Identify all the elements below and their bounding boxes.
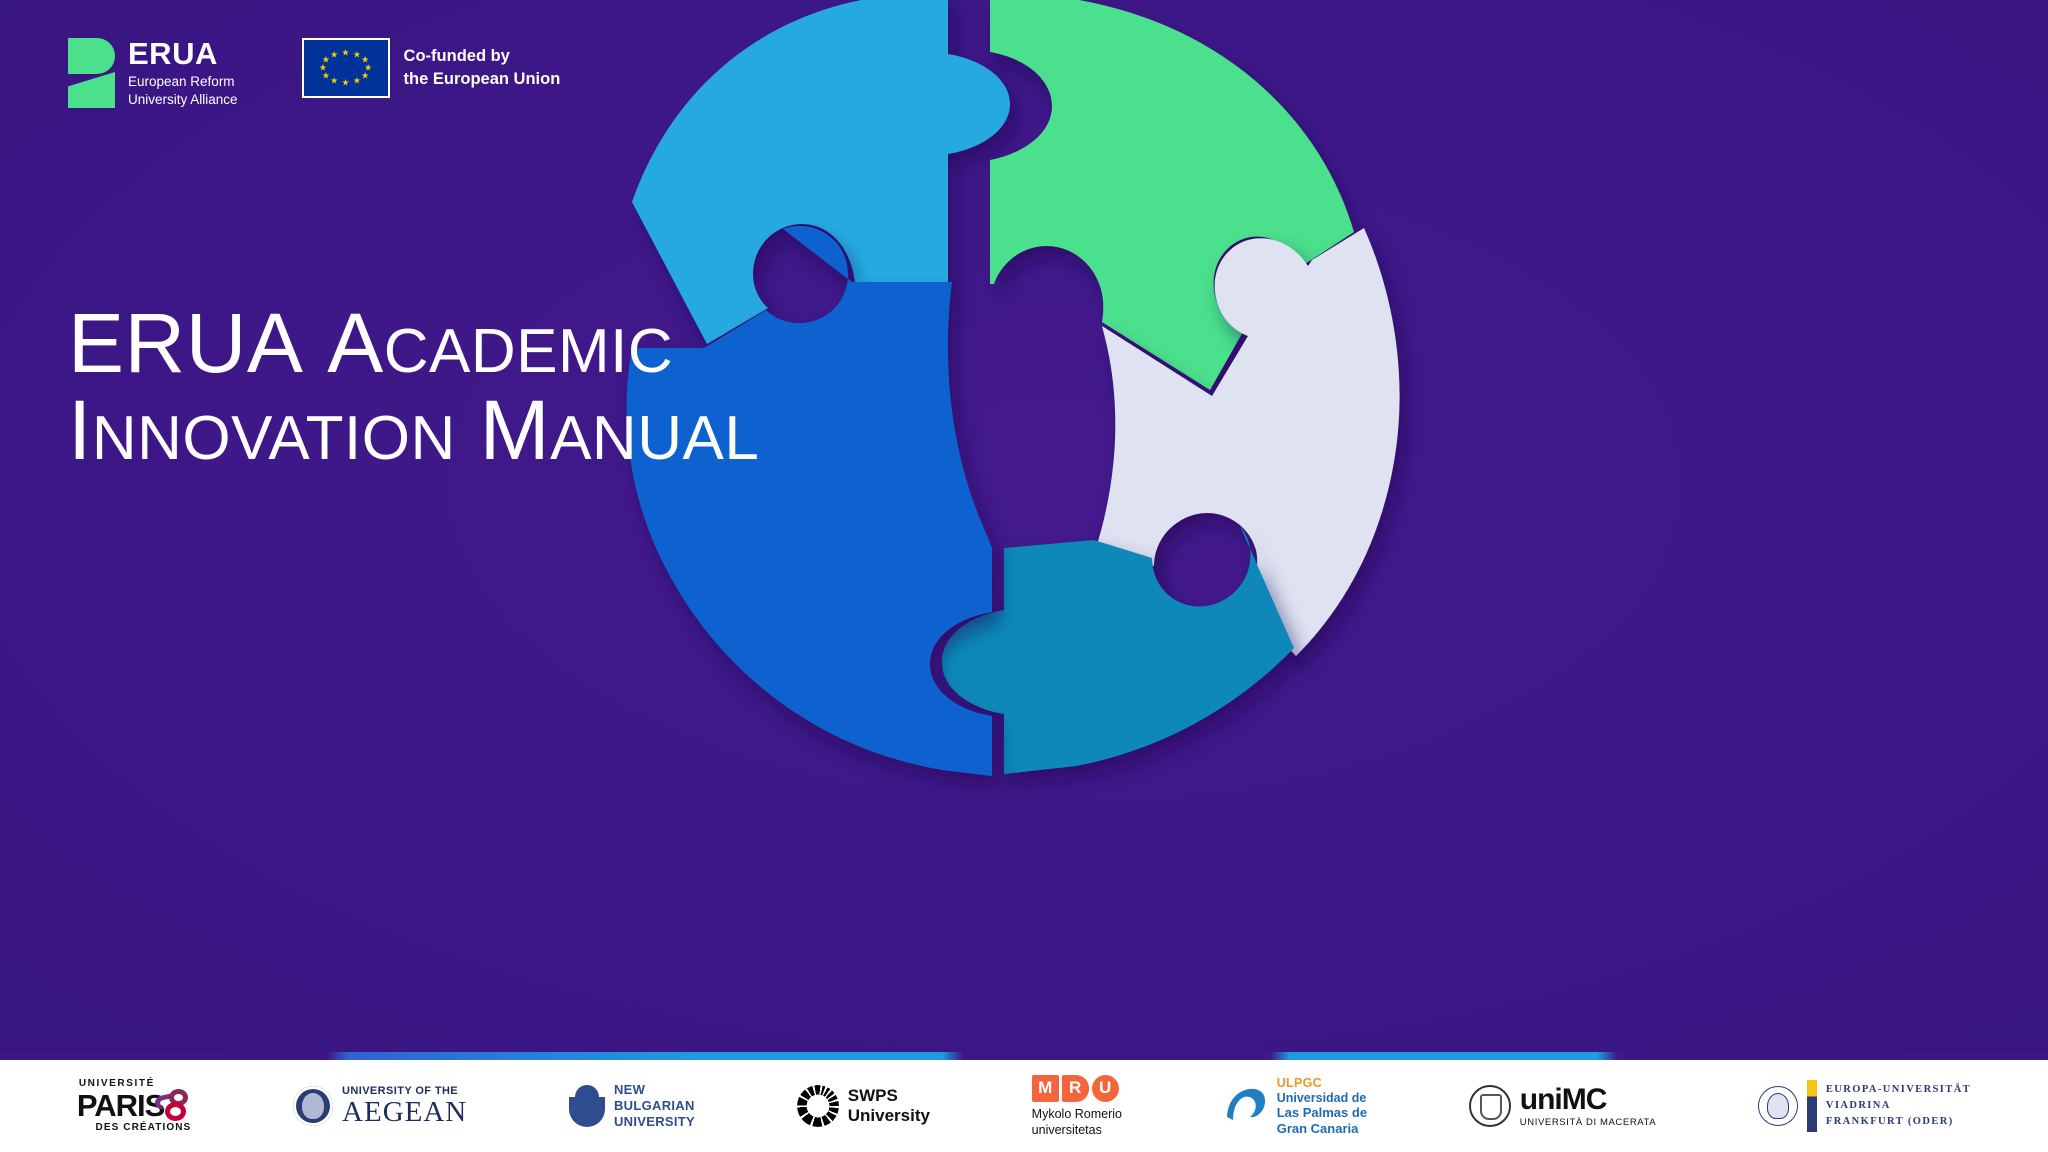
partner-logo-ulpgc: ULPGC Universidad de Las Palmas de Gran … — [1224, 1076, 1367, 1135]
cover-page: ERUA European Reform University Alliance… — [0, 0, 2048, 1152]
ulpgc-abbr: ULPGC — [1277, 1076, 1367, 1091]
viadrina-color-bar-icon — [1807, 1080, 1817, 1132]
mru-letter-m: M — [1032, 1075, 1059, 1102]
eu-star-icon: ★ — [322, 56, 330, 65]
eu-star-icon: ★ — [330, 77, 338, 86]
page-title-line2: INNOVATION MANUAL — [68, 387, 759, 474]
eu-cofunding-text: Co-funded by the European Union — [404, 45, 561, 91]
ulpgc-wave-icon — [1224, 1087, 1268, 1125]
puzzle-piece-cyan — [632, 0, 1010, 344]
partner-logo-unimc: uniMC UNIVERSITÀ DI MACERATA — [1469, 1085, 1656, 1128]
eu-text-line1: Co-funded by — [404, 45, 561, 68]
erua-tagline-line2: University Alliance — [128, 91, 238, 109]
partner-logo-mru: M R U Mykolo Romerio universitetas — [1032, 1075, 1122, 1138]
aegean-top-label: UNIVERSITY OF THE — [342, 1086, 467, 1097]
footer-accent-bar — [0, 1052, 2048, 1060]
mru-letter-r: R — [1062, 1075, 1089, 1102]
partner-logo-swps: SWPS University — [797, 1085, 930, 1127]
ulpgc-line1: Universidad de — [1277, 1091, 1367, 1106]
aegean-seal-icon — [293, 1086, 333, 1126]
mru-letter-u: U — [1092, 1075, 1119, 1102]
ulpgc-line2: Las Palmas de — [1277, 1105, 1367, 1120]
eu-star-icon: ★ — [342, 79, 350, 88]
viadrina-seal-icon — [1758, 1086, 1798, 1126]
nbu-line3: UNIVERSITY — [614, 1114, 695, 1130]
eu-star-icon: ★ — [342, 48, 350, 57]
mru-letter-blocks-icon: M R U — [1032, 1075, 1122, 1102]
mru-line2: universitetas — [1032, 1122, 1122, 1138]
eu-text-line2: the European Union — [404, 68, 561, 91]
viadrina-line1: EUROPA-UNIVERSITÄT — [1826, 1082, 1971, 1098]
eu-star-icon: ★ — [353, 50, 361, 59]
eu-star-icon: ★ — [361, 71, 369, 80]
nbu-line1: NEW — [614, 1082, 695, 1098]
page-title: ERUA ACADEMIC INNOVATION MANUAL — [68, 300, 759, 475]
eu-flag-icon: ★★★★★★★★★★★★ — [302, 38, 390, 98]
erua-logo: ERUA European Reform University Alliance — [68, 38, 238, 109]
eu-cofunding-logo: ★★★★★★★★★★★★ Co-funded by the European U… — [302, 38, 561, 98]
aegean-name: AEGEAN — [342, 1098, 467, 1127]
ulpgc-line3: Gran Canaria — [1277, 1121, 1367, 1136]
paris8-bottom-label: DES CRÉATIONS — [96, 1123, 192, 1133]
viadrina-line2: VIADRINA — [1826, 1098, 1971, 1114]
nbu-line2: BULGARIAN — [614, 1098, 695, 1114]
paris8-eight-icon — [161, 1089, 191, 1121]
nbu-mark-icon — [569, 1085, 605, 1127]
swps-sunburst-icon — [797, 1085, 839, 1127]
mru-line1: Mykolo Romerio — [1032, 1106, 1122, 1122]
page-title-line1: ERUA ACADEMIC — [68, 300, 759, 387]
swps-line2: University — [848, 1106, 930, 1126]
header-logos: ERUA European Reform University Alliance… — [68, 38, 560, 109]
partner-logos-bar: UNIVERSITÉ PARIS DES CRÉATIONS UNIVERSIT… — [0, 1060, 2048, 1152]
partner-logo-aegean: UNIVERSITY OF THE AEGEAN — [293, 1086, 467, 1127]
title-academic-cap: A — [327, 296, 384, 390]
partner-logo-paris8: UNIVERSITÉ PARIS DES CRÉATIONS — [77, 1079, 191, 1133]
eu-star-icon: ★ — [353, 77, 361, 86]
puzzle-piece-teal — [942, 526, 1294, 774]
partner-logo-viadrina: EUROPA-UNIVERSITÄT VIADRINA FRANKFURT (O… — [1758, 1080, 1971, 1132]
eu-star-icon: ★ — [330, 50, 338, 59]
viadrina-line3: FRANKFURT (ODER) — [1826, 1114, 1971, 1130]
paris8-name: PARIS — [77, 1090, 164, 1121]
erua-name: ERUA — [128, 38, 238, 69]
title-innovation-rest: NNOVATION — [92, 404, 456, 473]
title-innovation-cap: I — [68, 383, 92, 477]
unimc-name-light: MC — [1562, 1083, 1607, 1116]
title-academic-rest: CADEMIC — [384, 317, 673, 386]
title-manual-rest: ANUAL — [550, 404, 759, 473]
erua-tagline: European Reform University Alliance — [128, 73, 238, 109]
title-manual-cap: M — [480, 383, 550, 477]
unimc-sub: UNIVERSITÀ DI MACERATA — [1520, 1118, 1656, 1128]
erua-wordmark: ERUA European Reform University Alliance — [128, 38, 238, 109]
swps-line1: SWPS — [848, 1086, 930, 1106]
erua-tagline-line1: European Reform — [128, 73, 238, 91]
unimc-seal-icon — [1469, 1085, 1511, 1127]
unimc-name-bold: uni — [1520, 1083, 1562, 1116]
erua-r-mark-icon — [68, 38, 115, 108]
title-erua: ERUA — [68, 296, 303, 390]
partner-logo-nbu: NEW BULGARIAN UNIVERSITY — [569, 1082, 695, 1131]
